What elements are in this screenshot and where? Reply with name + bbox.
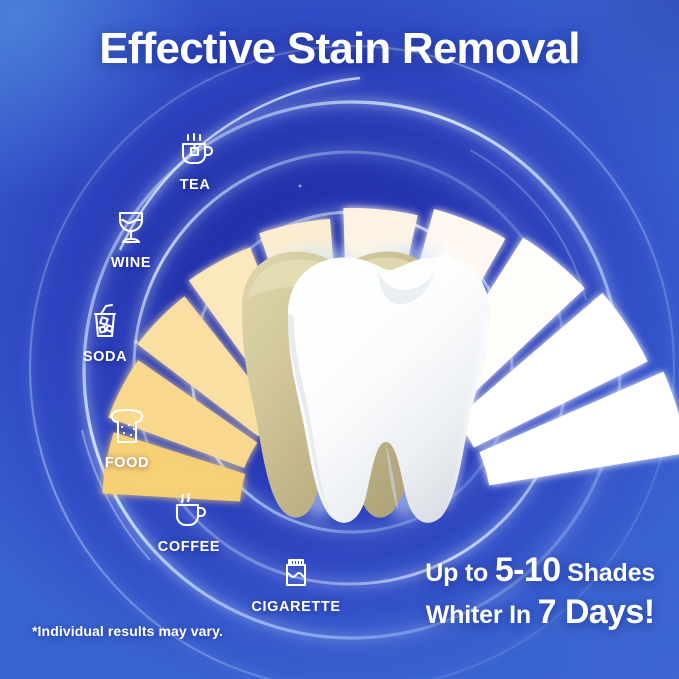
stain-source-cigarette: CIGARETTE: [246, 552, 346, 615]
claim-prefix: Up to: [425, 559, 495, 587]
stain-source-tea: TEA: [152, 130, 238, 193]
stain-source-coffee: COFFEE: [146, 492, 232, 555]
shade-segment: [343, 208, 417, 384]
shade-segment: [423, 238, 585, 417]
sparkle-icon: [412, 234, 480, 294]
promo-banner: Effective Stain Removal TEA WINE: [0, 0, 679, 679]
wine-glass-icon: [88, 208, 174, 252]
shade-segment: [189, 247, 308, 409]
claim-prefix-2: Whiter In: [426, 601, 538, 629]
stain-source-label: TEA: [152, 177, 238, 193]
tooth-illustration: [228, 228, 496, 528]
shade-segment: [455, 293, 648, 448]
tea-cup-icon: [152, 130, 238, 174]
shade-segment: [479, 372, 679, 486]
shade-segment: [259, 219, 342, 391]
claim-line-2: Whiter In 7 Days!: [425, 594, 655, 631]
claim-suffix: Shades: [561, 559, 655, 587]
stain-source-label: COFFEE: [146, 539, 232, 555]
disclaimer-text: *Individual results may vary.: [32, 623, 223, 639]
stain-source-label: WINE: [88, 255, 174, 271]
page-title: Effective Stain Removal: [0, 24, 679, 74]
stain-source-label: FOOD: [84, 455, 170, 471]
bread-slice-icon: [84, 408, 170, 452]
claim-shades-value: 5-10: [495, 551, 561, 589]
stain-source-soda: SODA: [62, 302, 148, 365]
stain-source-wine: WINE: [88, 208, 174, 271]
cigarette-pack-icon: [246, 552, 346, 596]
stain-source-label: SODA: [62, 349, 148, 365]
shade-segment: [386, 209, 505, 395]
stain-source-food: FOOD: [84, 408, 170, 471]
claim-days-value: 7 Days!: [538, 593, 655, 631]
claim-line-1: Up to 5-10 Shades: [425, 552, 655, 589]
soda-glass-icon: [62, 302, 148, 346]
stain-source-label: CIGARETTE: [246, 599, 346, 615]
coffee-cup-icon: [146, 492, 232, 536]
claim-block: Up to 5-10 Shades Whiter In 7 Days!: [425, 552, 655, 631]
